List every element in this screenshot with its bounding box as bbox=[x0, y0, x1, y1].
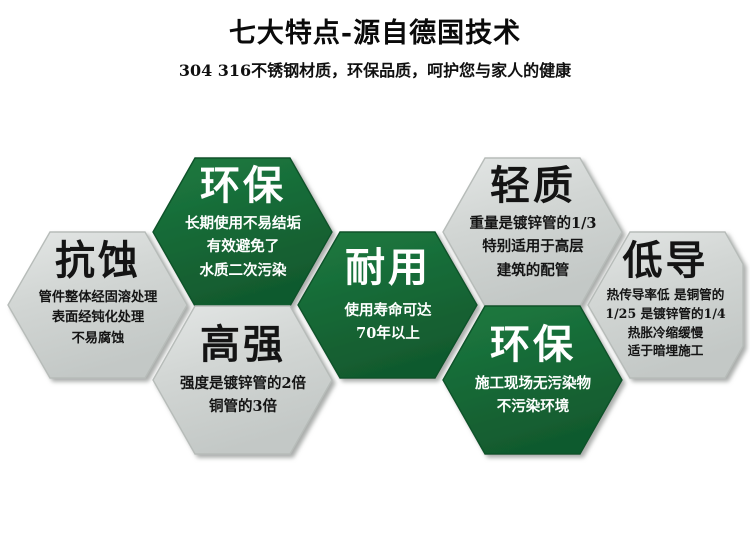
hexagon-naiyong[interactable] bbox=[298, 232, 477, 378]
hexagon-grid: 抗蚀 管件整体经固溶处理 表面经钝化处理 不易腐蚀 环保 长期使用不易结垢 有效… bbox=[0, 0, 750, 533]
hexagon-huanbao-bottom[interactable] bbox=[443, 306, 622, 454]
hexagon-shapes bbox=[0, 0, 750, 533]
hexagon-qingzhi[interactable] bbox=[443, 158, 622, 306]
infographic-page: 七大特点-源自德国技术 304 316不锈钢材质，环保品质，呵护您与家人的健康 bbox=[0, 0, 750, 533]
hexagon-kangshi[interactable] bbox=[8, 232, 187, 378]
hexagon-huanbao-top[interactable] bbox=[153, 158, 332, 306]
hexagon-didao[interactable] bbox=[588, 232, 743, 378]
hexagon-gaoqiang[interactable] bbox=[153, 306, 332, 454]
